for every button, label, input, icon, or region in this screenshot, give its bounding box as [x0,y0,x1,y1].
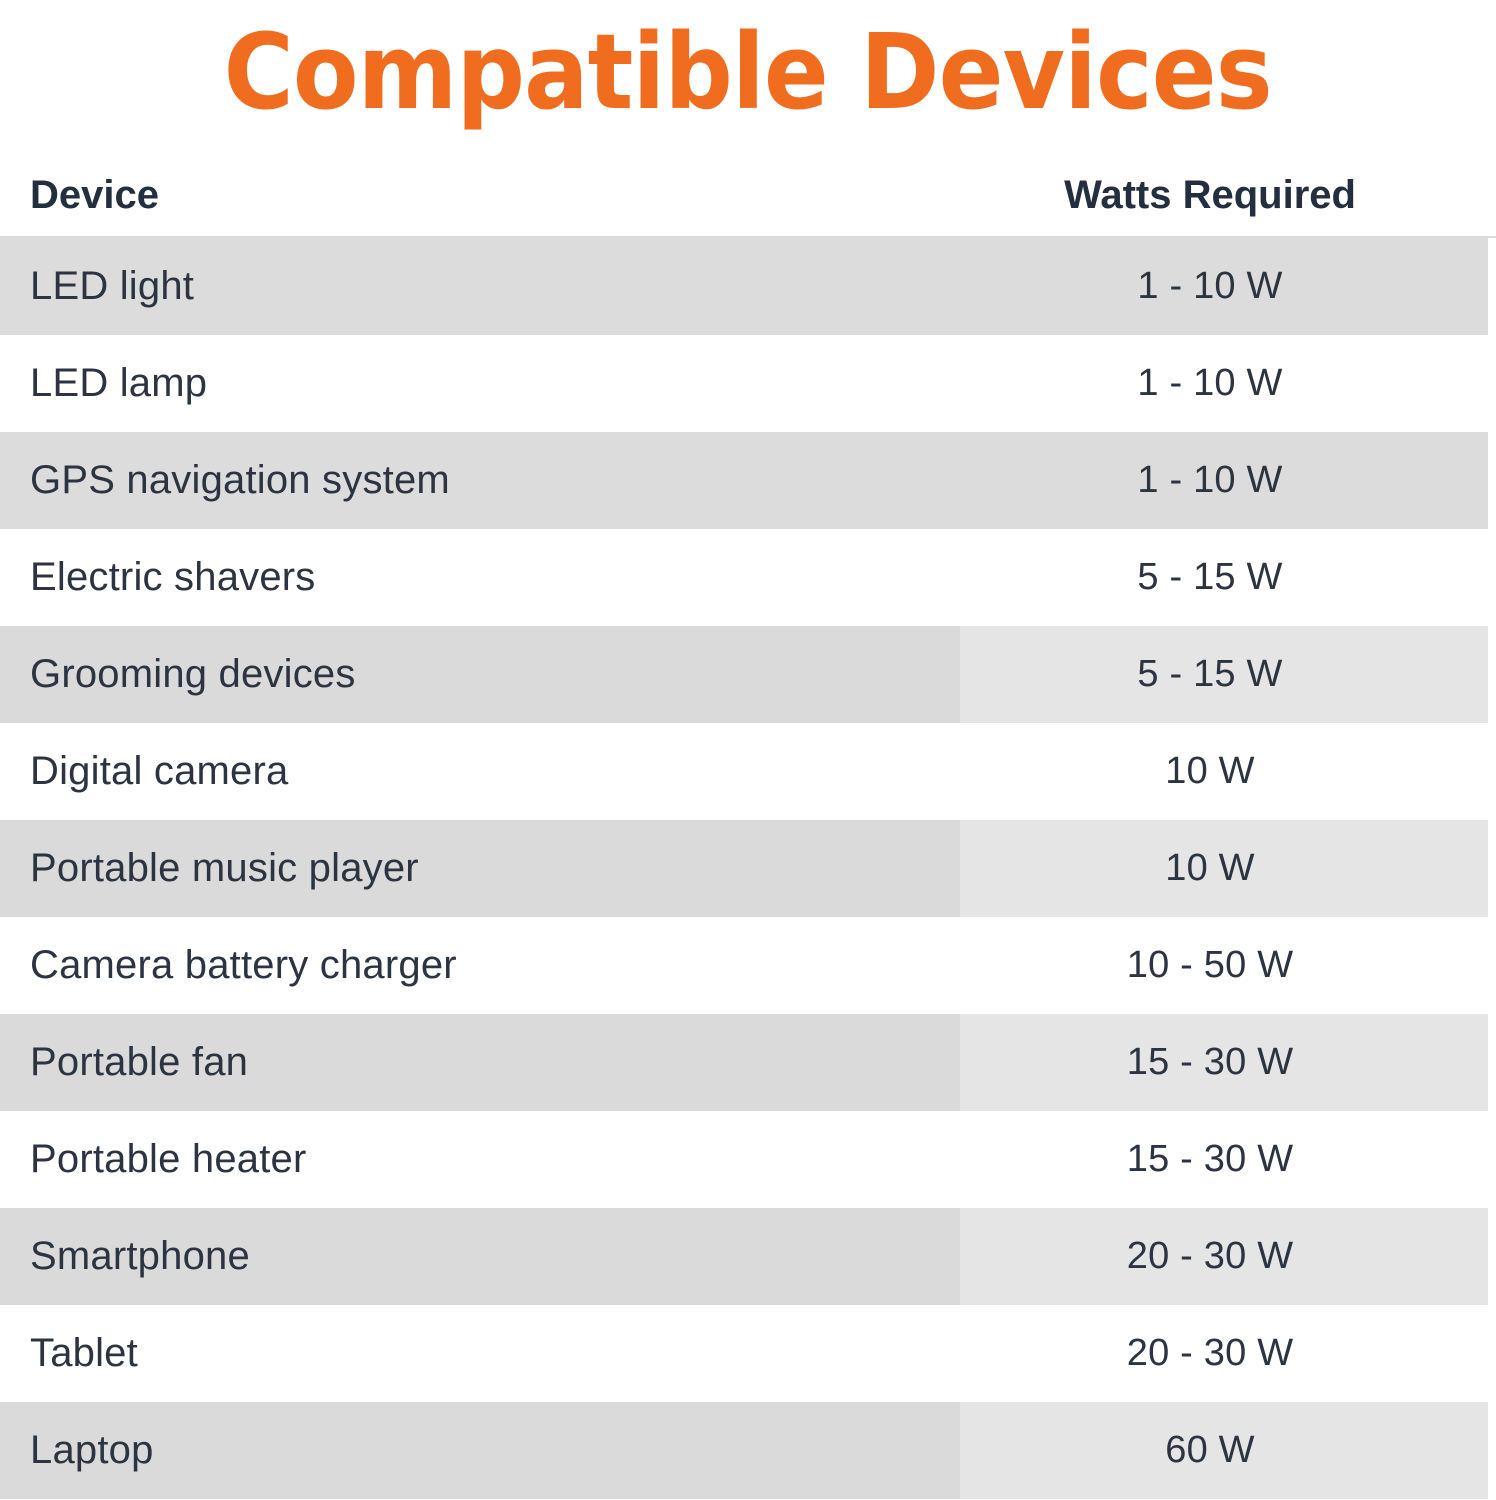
cell-device-name: Electric shavers [30,529,316,626]
table-row: Portable music player10 W [0,820,1496,917]
cell-watts-required: 10 - 50 W [960,917,1488,1014]
cell-watts-required: 15 - 30 W [960,1014,1488,1111]
table-row: Laptop60 W [0,1402,1496,1499]
compatible-devices-page: Compatible Devices Device Watts Required… [0,0,1496,1500]
cell-watts-required: 60 W [960,1402,1488,1499]
cell-device-name: Camera battery charger [30,917,457,1014]
table-row: Tablet20 - 30 W [0,1305,1496,1402]
page-title-container: Compatible Devices [0,0,1496,140]
cell-watts-required: 5 - 15 W [960,529,1488,626]
page-title: Compatible Devices [224,20,1272,124]
cell-watts-required: 1 - 10 W [960,335,1488,432]
table-row: Grooming devices5 - 15 W [0,626,1496,723]
cell-device-name: Grooming devices [30,626,356,723]
cell-device-name: Smartphone [30,1208,250,1305]
table-row: LED lamp1 - 10 W [0,335,1496,432]
table-row: Portable fan15 - 30 W [0,1014,1496,1111]
cell-watts-required: 20 - 30 W [960,1208,1488,1305]
table-header-row: Device Watts Required [0,140,1496,238]
table-row: GPS navigation system1 - 10 W [0,432,1496,529]
cell-watts-required: 5 - 15 W [960,626,1488,723]
table-row: Electric shavers5 - 15 W [0,529,1496,626]
cell-device-name: GPS navigation system [30,432,450,529]
cell-watts-required: 10 W [960,820,1488,917]
cell-device-name: Digital camera [30,723,288,820]
cell-watts-required: 1 - 10 W [960,238,1488,335]
row-shade-device-column [0,1305,960,1402]
table-row: Camera battery charger10 - 50 W [0,917,1496,1014]
cell-device-name: LED light [30,238,194,335]
table-row: Portable heater15 - 30 W [0,1111,1496,1208]
cell-watts-required: 20 - 30 W [960,1305,1488,1402]
table-row: Digital camera10 W [0,723,1496,820]
cell-device-name: LED lamp [30,335,207,432]
column-header-device: Device [30,173,159,218]
table-row: Smartphone20 - 30 W [0,1208,1496,1305]
cell-device-name: Portable music player [30,820,419,917]
compatible-devices-table: Device Watts Required LED light1 - 10 WL… [0,140,1496,1499]
column-header-watts-required: Watts Required [960,173,1488,218]
cell-device-name: Portable fan [30,1014,248,1111]
cell-device-name: Portable heater [30,1111,307,1208]
table-row: LED light1 - 10 W [0,238,1496,335]
cell-watts-required: 10 W [960,723,1488,820]
cell-watts-required: 15 - 30 W [960,1111,1488,1208]
cell-watts-required: 1 - 10 W [960,432,1488,529]
cell-device-name: Tablet [30,1305,138,1402]
cell-device-name: Laptop [30,1402,154,1499]
table-body: LED light1 - 10 WLED lamp1 - 10 WGPS nav… [0,238,1496,1499]
